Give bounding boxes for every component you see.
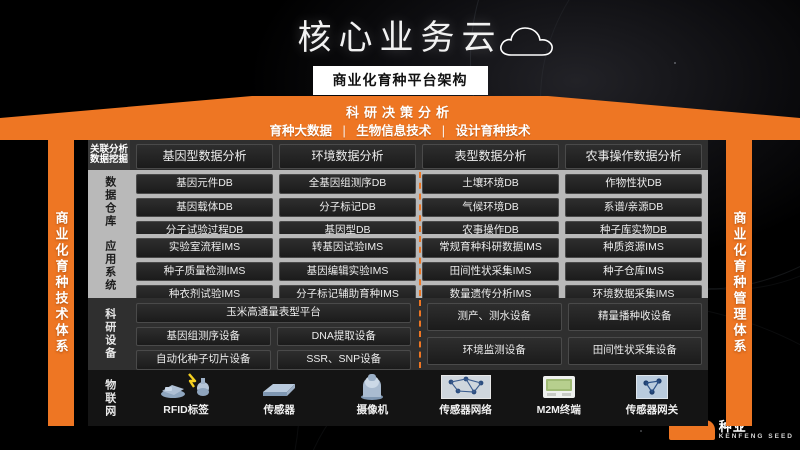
iot-device[interactable]: RFID标签 xyxy=(142,372,230,417)
row-label-analysis: 关联分析 数据挖掘 xyxy=(88,140,130,170)
analysis-cell[interactable]: 表型数据分析 xyxy=(422,144,559,169)
sensor-network-icon xyxy=(422,372,510,400)
camera-icon xyxy=(328,372,416,400)
sensor-icon xyxy=(235,372,323,400)
page-title: 核心业务云 xyxy=(298,18,503,58)
architecture-panel: 关联分析 数据挖掘 基因型数据分析 环境数据分析 表型数据分析 农事操作数据分析… xyxy=(88,140,708,426)
iot-device-label: 传感器网络 xyxy=(422,402,510,417)
iot-device[interactable]: 传感器网络 xyxy=(422,372,510,417)
equipment-cell[interactable]: 基因组测序设备 xyxy=(136,327,271,347)
warehouse-cell[interactable]: 气候环境DB xyxy=(422,198,559,218)
center-divider xyxy=(419,300,421,368)
rfid-tag-icon xyxy=(142,372,230,400)
subtitle-banner: 商业化育种平台架构 xyxy=(313,66,488,95)
row-label-analysis-line2: 数据挖掘 xyxy=(90,155,128,165)
iot-device-label: M2M终端 xyxy=(515,402,603,417)
cloud-icon xyxy=(497,24,555,58)
equipment-cell[interactable]: DNA提取设备 xyxy=(277,327,412,347)
equipment-cell[interactable]: 自动化种子切片设备 xyxy=(136,350,271,370)
row-internet-of-things: 物联网 xyxy=(88,370,708,426)
warehouse-cell[interactable]: 全基因组测序DB xyxy=(279,174,416,194)
iot-device-label: 传感器网关 xyxy=(608,402,696,417)
decision-analysis-banner: 科研决策分析 育种大数据 | 生物信息技术 | 设计育种技术 xyxy=(0,96,800,140)
application-cell[interactable]: 转基因试验IMS xyxy=(279,238,416,258)
equipment-cell[interactable]: 环境监测设备 xyxy=(427,337,562,365)
iot-device-label: RFID标签 xyxy=(142,402,230,417)
application-cell[interactable]: 实验室流程IMS xyxy=(136,238,273,258)
row-research-equipment: 科研设备 玉米高通量表型平台 基因组测序设备 DNA提取设备 自动化种子切片设备… xyxy=(88,298,708,370)
analysis-cell[interactable]: 环境数据分析 xyxy=(279,144,416,169)
row-label-data-warehouse: 数据仓库 xyxy=(88,170,130,234)
warehouse-cell[interactable]: 系谱/亲源DB xyxy=(565,198,702,218)
row-equipment-body: 玉米高通量表型平台 基因组测序设备 DNA提取设备 自动化种子切片设备 SSR、… xyxy=(130,298,708,370)
row-apps-body: 实验室流程IMS 转基因试验IMS 常规育种科研数据IMS 种质资源IMS 种子… xyxy=(130,234,708,298)
row-iot-body: RFID标签 传感器 xyxy=(130,370,708,426)
equipment-cell-wide[interactable]: 玉米高通量表型平台 xyxy=(136,303,411,323)
row-label-application-systems: 应用系统 xyxy=(88,234,130,298)
logo-name-en: KENFENG SEED xyxy=(719,434,794,441)
banner-separator-0: | xyxy=(336,124,353,138)
center-divider xyxy=(419,236,421,296)
analysis-cell[interactable]: 农事操作数据分析 xyxy=(565,144,702,169)
analysis-cell[interactable]: 基因型数据分析 xyxy=(136,144,273,169)
banner-items: 育种大数据 | 生物信息技术 | 设计育种技术 xyxy=(0,120,800,139)
banner-item-1: 生物信息技术 xyxy=(356,124,431,138)
application-cell[interactable]: 种子仓库IMS xyxy=(565,262,702,282)
warehouse-cell[interactable]: 土壤环境DB xyxy=(422,174,559,194)
banner-title: 科研决策分析 xyxy=(0,102,800,121)
application-cell[interactable]: 基因编辑实验IMS xyxy=(279,262,416,282)
architecture-diagram: 核心业务云 商业化育种平台架构 科研决策分析 育种大数据 | 生物信息技术 | … xyxy=(0,0,800,450)
equipment-cell[interactable]: SSR、SNP设备 xyxy=(277,350,412,370)
application-cell[interactable]: 种子质量检测IMS xyxy=(136,262,273,282)
center-divider xyxy=(419,172,421,232)
application-cell[interactable]: 种质资源IMS xyxy=(565,238,702,258)
pillar-left-label: 商业化育种技术体系 xyxy=(52,211,71,355)
row-analysis: 关联分析 数据挖掘 基因型数据分析 环境数据分析 表型数据分析 农事操作数据分析 xyxy=(88,140,708,170)
pillar-right-label: 商业化育种管理体系 xyxy=(730,211,749,355)
iot-device-label: 摄像机 xyxy=(328,402,416,417)
application-cell[interactable]: 田间性状采集IMS xyxy=(422,262,559,282)
iot-device-label: 传感器 xyxy=(235,402,323,417)
row-analysis-body: 基因型数据分析 环境数据分析 表型数据分析 农事操作数据分析 xyxy=(130,140,708,170)
warehouse-cell[interactable]: 分子标记DB xyxy=(279,198,416,218)
banner-item-2: 设计育种技术 xyxy=(455,124,530,138)
pillar-breeding-technology-system: 商业化育种技术体系 xyxy=(48,140,74,426)
banner-separator-1: | xyxy=(435,124,452,138)
row-data-warehouse: 数据仓库 基因元件DB 全基因组测序DB 土壤环境DB 作物性状DB 基因载体D… xyxy=(88,170,708,234)
row-label-research-equipment: 科研设备 xyxy=(88,298,130,370)
banner-item-0: 育种大数据 xyxy=(270,124,333,138)
equipment-cell[interactable]: 田间性状采集设备 xyxy=(568,337,703,365)
warehouse-cell[interactable]: 基因载体DB xyxy=(136,198,273,218)
warehouse-cell[interactable]: 基因元件DB xyxy=(136,174,273,194)
row-application-systems: 应用系统 实验室流程IMS 转基因试验IMS 常规育种科研数据IMS 种质资源I… xyxy=(88,234,708,298)
iot-device[interactable]: M2M终端 xyxy=(515,372,603,417)
application-cell[interactable]: 常规育种科研数据IMS xyxy=(422,238,559,258)
iot-device[interactable]: 摄像机 xyxy=(328,372,416,417)
equipment-right-group: 测产、测水设备 精量播种收设备 环境监测设备 田间性状采集设备 xyxy=(419,303,702,365)
iot-device[interactable]: 传感器 xyxy=(235,372,323,417)
warehouse-cell[interactable]: 作物性状DB xyxy=(565,174,702,194)
main-title-text: 核心业务云 xyxy=(298,19,503,57)
sensor-gateway-icon xyxy=(608,372,696,400)
m2m-terminal-icon xyxy=(515,372,603,400)
iot-device[interactable]: 传感器网关 xyxy=(608,372,696,417)
row-warehouse-body: 基因元件DB 全基因组测序DB 土壤环境DB 作物性状DB 基因载体DB 分子标… xyxy=(130,170,708,234)
equipment-cell[interactable]: 测产、测水设备 xyxy=(427,303,562,331)
equipment-cell[interactable]: 精量播种收设备 xyxy=(568,303,703,331)
equipment-left-group: 玉米高通量表型平台 基因组测序设备 DNA提取设备 自动化种子切片设备 SSR、… xyxy=(136,303,419,365)
row-label-iot: 物联网 xyxy=(88,370,130,426)
title-block: 核心业务云 商业化育种平台架构 xyxy=(0,18,800,95)
pillar-breeding-management-system: 商业化育种管理体系 xyxy=(726,140,752,426)
